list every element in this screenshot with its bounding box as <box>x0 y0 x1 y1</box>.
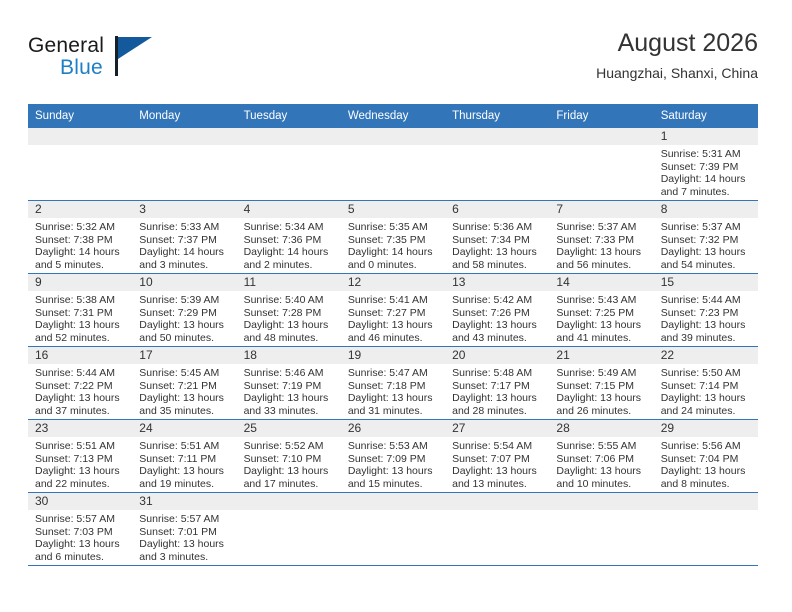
day-detail-line: Sunrise: 5:54 AM <box>452 440 543 453</box>
day-detail-line: Sunset: 7:28 PM <box>244 307 335 320</box>
day-detail-line: Sunset: 7:35 PM <box>348 234 439 247</box>
calendar-day-cell[interactable]: 23Sunrise: 5:51 AMSunset: 7:13 PMDayligh… <box>28 420 132 493</box>
day-details <box>28 145 132 148</box>
day-detail-line: Daylight: 13 hours <box>556 319 647 332</box>
calendar-day-cell[interactable]: 29Sunrise: 5:56 AMSunset: 7:04 PMDayligh… <box>654 420 758 493</box>
day-detail-line: Daylight: 13 hours <box>452 465 543 478</box>
calendar-day-cell[interactable]: 21Sunrise: 5:49 AMSunset: 7:15 PMDayligh… <box>549 347 653 420</box>
day-detail-line: Sunrise: 5:52 AM <box>244 440 335 453</box>
day-detail-line: Sunrise: 5:50 AM <box>661 367 752 380</box>
logo-flag-icon <box>118 37 152 59</box>
day-details: Sunrise: 5:50 AMSunset: 7:14 PMDaylight:… <box>654 364 758 417</box>
day-detail-line: and 3 minutes. <box>139 259 230 272</box>
calendar-day-cell-empty <box>654 493 758 566</box>
day-detail-line: Sunrise: 5:31 AM <box>661 148 752 161</box>
day-detail-line: Daylight: 14 hours <box>35 246 126 259</box>
calendar-day-cell[interactable]: 30Sunrise: 5:57 AMSunset: 7:03 PMDayligh… <box>28 493 132 566</box>
calendar-body: 1Sunrise: 5:31 AMSunset: 7:39 PMDaylight… <box>28 128 758 566</box>
day-detail-line: and 54 minutes. <box>661 259 752 272</box>
day-details: Sunrise: 5:38 AMSunset: 7:31 PMDaylight:… <box>28 291 132 344</box>
day-detail-line: Sunrise: 5:35 AM <box>348 221 439 234</box>
calendar-day-cell-empty <box>132 128 236 201</box>
day-detail-line: Sunrise: 5:49 AM <box>556 367 647 380</box>
calendar-day-cell[interactable]: 12Sunrise: 5:41 AMSunset: 7:27 PMDayligh… <box>341 274 445 347</box>
day-number <box>654 493 758 510</box>
day-number: 15 <box>654 274 758 291</box>
day-detail-line: Sunrise: 5:44 AM <box>35 367 126 380</box>
day-detail-line: Sunset: 7:19 PM <box>244 380 335 393</box>
day-detail-line: Daylight: 13 hours <box>348 465 439 478</box>
calendar-day-cell[interactable]: 5Sunrise: 5:35 AMSunset: 7:35 PMDaylight… <box>341 201 445 274</box>
day-detail-line: Daylight: 14 hours <box>244 246 335 259</box>
day-number <box>445 493 549 510</box>
calendar-day-cell-empty <box>341 128 445 201</box>
day-detail-line: Sunset: 7:39 PM <box>661 161 752 174</box>
calendar-day-cell[interactable]: 31Sunrise: 5:57 AMSunset: 7:01 PMDayligh… <box>132 493 236 566</box>
day-number: 9 <box>28 274 132 291</box>
day-number <box>341 128 445 145</box>
page-title: August 2026 <box>596 28 758 58</box>
day-details <box>237 510 341 513</box>
day-number: 14 <box>549 274 653 291</box>
day-detail-line: Sunset: 7:37 PM <box>139 234 230 247</box>
day-detail-line: Sunrise: 5:53 AM <box>348 440 439 453</box>
day-details: Sunrise: 5:51 AMSunset: 7:11 PMDaylight:… <box>132 437 236 490</box>
weekday-header-saturday: Saturday <box>654 104 758 128</box>
day-details: Sunrise: 5:35 AMSunset: 7:35 PMDaylight:… <box>341 218 445 271</box>
calendar-day-cell[interactable]: 16Sunrise: 5:44 AMSunset: 7:22 PMDayligh… <box>28 347 132 420</box>
day-number: 2 <box>28 201 132 218</box>
day-details: Sunrise: 5:52 AMSunset: 7:10 PMDaylight:… <box>237 437 341 490</box>
day-detail-line: and 56 minutes. <box>556 259 647 272</box>
logo-text-blue: Blue <box>60 56 103 80</box>
day-details: Sunrise: 5:55 AMSunset: 7:06 PMDaylight:… <box>549 437 653 490</box>
day-detail-line: Sunset: 7:32 PM <box>661 234 752 247</box>
calendar-day-cell[interactable]: 14Sunrise: 5:43 AMSunset: 7:25 PMDayligh… <box>549 274 653 347</box>
day-detail-line: Daylight: 13 hours <box>661 319 752 332</box>
day-detail-line: Daylight: 14 hours <box>348 246 439 259</box>
calendar-day-cell[interactable]: 19Sunrise: 5:47 AMSunset: 7:18 PMDayligh… <box>341 347 445 420</box>
day-detail-line: Sunset: 7:23 PM <box>661 307 752 320</box>
calendar-day-cell[interactable]: 18Sunrise: 5:46 AMSunset: 7:19 PMDayligh… <box>237 347 341 420</box>
day-number: 6 <box>445 201 549 218</box>
day-number: 30 <box>28 493 132 510</box>
day-detail-line: and 24 minutes. <box>661 405 752 418</box>
day-detail-line: and 0 minutes. <box>348 259 439 272</box>
day-number: 11 <box>237 274 341 291</box>
day-detail-line: and 43 minutes. <box>452 332 543 345</box>
day-number: 21 <box>549 347 653 364</box>
day-detail-line: Sunset: 7:03 PM <box>35 526 126 539</box>
day-number <box>549 493 653 510</box>
day-detail-line: Daylight: 13 hours <box>556 392 647 405</box>
calendar-week-row: 2Sunrise: 5:32 AMSunset: 7:38 PMDaylight… <box>28 201 758 274</box>
calendar-day-cell[interactable]: 9Sunrise: 5:38 AMSunset: 7:31 PMDaylight… <box>28 274 132 347</box>
day-detail-line: and 58 minutes. <box>452 259 543 272</box>
page-subtitle: Huangzhai, Shanxi, China <box>596 63 758 83</box>
day-detail-line: and 15 minutes. <box>348 478 439 491</box>
calendar-day-cell-empty <box>549 128 653 201</box>
day-detail-line: and 50 minutes. <box>139 332 230 345</box>
calendar-day-cell[interactable]: 3Sunrise: 5:33 AMSunset: 7:37 PMDaylight… <box>132 201 236 274</box>
calendar-day-cell[interactable]: 27Sunrise: 5:54 AMSunset: 7:07 PMDayligh… <box>445 420 549 493</box>
day-detail-line: and 52 minutes. <box>35 332 126 345</box>
day-detail-line: Sunset: 7:36 PM <box>244 234 335 247</box>
calendar-day-cell-empty <box>445 493 549 566</box>
day-detail-line: Sunrise: 5:37 AM <box>556 221 647 234</box>
day-detail-line: Daylight: 13 hours <box>35 319 126 332</box>
day-detail-line: Sunrise: 5:42 AM <box>452 294 543 307</box>
day-detail-line: Sunrise: 5:55 AM <box>556 440 647 453</box>
day-details: Sunrise: 5:51 AMSunset: 7:13 PMDaylight:… <box>28 437 132 490</box>
day-detail-line: Sunset: 7:13 PM <box>35 453 126 466</box>
day-details: Sunrise: 5:36 AMSunset: 7:34 PMDaylight:… <box>445 218 549 271</box>
calendar-day-cell[interactable]: 15Sunrise: 5:44 AMSunset: 7:23 PMDayligh… <box>654 274 758 347</box>
day-detail-line: and 46 minutes. <box>348 332 439 345</box>
day-detail-line: and 22 minutes. <box>35 478 126 491</box>
day-details <box>445 145 549 148</box>
day-detail-line: Sunset: 7:06 PM <box>556 453 647 466</box>
calendar-week-row: 23Sunrise: 5:51 AMSunset: 7:13 PMDayligh… <box>28 420 758 493</box>
day-details: Sunrise: 5:57 AMSunset: 7:03 PMDaylight:… <box>28 510 132 563</box>
day-details: Sunrise: 5:37 AMSunset: 7:33 PMDaylight:… <box>549 218 653 271</box>
day-number: 29 <box>654 420 758 437</box>
day-detail-line: Sunset: 7:09 PM <box>348 453 439 466</box>
calendar-day-cell[interactable]: 24Sunrise: 5:51 AMSunset: 7:11 PMDayligh… <box>132 420 236 493</box>
day-number: 19 <box>341 347 445 364</box>
day-detail-line: Sunset: 7:26 PM <box>452 307 543 320</box>
day-detail-line: Daylight: 13 hours <box>35 465 126 478</box>
day-detail-line: Daylight: 13 hours <box>661 392 752 405</box>
calendar-day-cell[interactable]: 7Sunrise: 5:37 AMSunset: 7:33 PMDaylight… <box>549 201 653 274</box>
day-detail-line: Sunset: 7:29 PM <box>139 307 230 320</box>
day-detail-line: and 6 minutes. <box>35 551 126 564</box>
day-detail-line: Sunset: 7:07 PM <box>452 453 543 466</box>
day-detail-line: and 7 minutes. <box>661 186 752 199</box>
day-detail-line: and 8 minutes. <box>661 478 752 491</box>
day-detail-line: Daylight: 13 hours <box>661 465 752 478</box>
day-detail-line: Sunrise: 5:57 AM <box>35 513 126 526</box>
day-detail-line: Sunrise: 5:32 AM <box>35 221 126 234</box>
day-details: Sunrise: 5:33 AMSunset: 7:37 PMDaylight:… <box>132 218 236 271</box>
day-detail-line: Sunset: 7:34 PM <box>452 234 543 247</box>
day-detail-line: Daylight: 13 hours <box>556 465 647 478</box>
weekday-header-wednesday: Wednesday <box>341 104 445 128</box>
day-details <box>445 510 549 513</box>
day-detail-line: and 10 minutes. <box>556 478 647 491</box>
calendar-week-row: 16Sunrise: 5:44 AMSunset: 7:22 PMDayligh… <box>28 347 758 420</box>
day-detail-line: and 19 minutes. <box>139 478 230 491</box>
day-details <box>237 145 341 148</box>
day-details: Sunrise: 5:32 AMSunset: 7:38 PMDaylight:… <box>28 218 132 271</box>
weekday-header-thursday: Thursday <box>445 104 549 128</box>
calendar-page: General Blue August 2026 Huangzhai, Shan… <box>0 0 792 612</box>
day-number: 18 <box>237 347 341 364</box>
day-details: Sunrise: 5:39 AMSunset: 7:29 PMDaylight:… <box>132 291 236 344</box>
day-details: Sunrise: 5:37 AMSunset: 7:32 PMDaylight:… <box>654 218 758 271</box>
day-detail-line: Sunrise: 5:47 AM <box>348 367 439 380</box>
calendar-day-cell[interactable]: 13Sunrise: 5:42 AMSunset: 7:26 PMDayligh… <box>445 274 549 347</box>
day-detail-line: and 41 minutes. <box>556 332 647 345</box>
calendar-day-cell[interactable]: 11Sunrise: 5:40 AMSunset: 7:28 PMDayligh… <box>237 274 341 347</box>
day-detail-line: and 39 minutes. <box>661 332 752 345</box>
day-detail-line: Sunset: 7:15 PM <box>556 380 647 393</box>
day-detail-line: Sunrise: 5:57 AM <box>139 513 230 526</box>
day-details: Sunrise: 5:34 AMSunset: 7:36 PMDaylight:… <box>237 218 341 271</box>
day-detail-line: Daylight: 13 hours <box>139 465 230 478</box>
day-detail-line: Daylight: 13 hours <box>452 319 543 332</box>
day-details: Sunrise: 5:49 AMSunset: 7:15 PMDaylight:… <box>549 364 653 417</box>
day-detail-line: Daylight: 13 hours <box>348 319 439 332</box>
day-details: Sunrise: 5:46 AMSunset: 7:19 PMDaylight:… <box>237 364 341 417</box>
day-detail-line: Sunset: 7:33 PM <box>556 234 647 247</box>
day-number: 12 <box>341 274 445 291</box>
day-number <box>237 493 341 510</box>
day-number <box>28 128 132 145</box>
day-number <box>341 493 445 510</box>
day-detail-line: Sunset: 7:11 PM <box>139 453 230 466</box>
calendar-week-row: 30Sunrise: 5:57 AMSunset: 7:03 PMDayligh… <box>28 493 758 566</box>
day-detail-line: Sunset: 7:22 PM <box>35 380 126 393</box>
day-detail-line: Daylight: 14 hours <box>661 173 752 186</box>
day-detail-line: Daylight: 14 hours <box>139 246 230 259</box>
calendar-day-cell[interactable]: 10Sunrise: 5:39 AMSunset: 7:29 PMDayligh… <box>132 274 236 347</box>
calendar-day-cell-empty <box>445 128 549 201</box>
day-detail-line: Sunrise: 5:43 AM <box>556 294 647 307</box>
day-details: Sunrise: 5:57 AMSunset: 7:01 PMDaylight:… <box>132 510 236 563</box>
title-block: August 2026 Huangzhai, Shanxi, China <box>596 28 758 83</box>
day-details: Sunrise: 5:40 AMSunset: 7:28 PMDaylight:… <box>237 291 341 344</box>
day-number: 26 <box>341 420 445 437</box>
day-details <box>549 145 653 148</box>
day-number <box>445 128 549 145</box>
day-detail-line: and 13 minutes. <box>452 478 543 491</box>
day-details: Sunrise: 5:44 AMSunset: 7:23 PMDaylight:… <box>654 291 758 344</box>
weekday-header-friday: Friday <box>549 104 653 128</box>
day-detail-line: Sunset: 7:21 PM <box>139 380 230 393</box>
day-detail-line: Sunrise: 5:33 AM <box>139 221 230 234</box>
day-number: 7 <box>549 201 653 218</box>
day-number: 3 <box>132 201 236 218</box>
day-number: 16 <box>28 347 132 364</box>
calendar-day-cell[interactable]: 20Sunrise: 5:48 AMSunset: 7:17 PMDayligh… <box>445 347 549 420</box>
page-header: General Blue August 2026 Huangzhai, Shan… <box>28 28 758 96</box>
day-details: Sunrise: 5:48 AMSunset: 7:17 PMDaylight:… <box>445 364 549 417</box>
day-detail-line: and 5 minutes. <box>35 259 126 272</box>
day-details: Sunrise: 5:56 AMSunset: 7:04 PMDaylight:… <box>654 437 758 490</box>
day-detail-line: Daylight: 13 hours <box>139 319 230 332</box>
day-detail-line: Sunset: 7:14 PM <box>661 380 752 393</box>
calendar-day-cell-empty <box>549 493 653 566</box>
day-number: 27 <box>445 420 549 437</box>
day-detail-line: and 28 minutes. <box>452 405 543 418</box>
day-detail-line: Daylight: 13 hours <box>244 319 335 332</box>
day-details <box>549 510 653 513</box>
day-detail-line: Sunset: 7:38 PM <box>35 234 126 247</box>
day-detail-line: Sunrise: 5:38 AM <box>35 294 126 307</box>
day-detail-line: Sunset: 7:17 PM <box>452 380 543 393</box>
day-detail-line: Sunrise: 5:48 AM <box>452 367 543 380</box>
day-detail-line: and 17 minutes. <box>244 478 335 491</box>
day-detail-line: Daylight: 13 hours <box>244 392 335 405</box>
calendar-week-row: 1Sunrise: 5:31 AMSunset: 7:39 PMDaylight… <box>28 128 758 201</box>
calendar-day-cell[interactable]: 8Sunrise: 5:37 AMSunset: 7:32 PMDaylight… <box>654 201 758 274</box>
day-number: 20 <box>445 347 549 364</box>
day-details: Sunrise: 5:45 AMSunset: 7:21 PMDaylight:… <box>132 364 236 417</box>
calendar-day-cell[interactable]: 4Sunrise: 5:34 AMSunset: 7:36 PMDaylight… <box>237 201 341 274</box>
day-detail-line: Sunset: 7:18 PM <box>348 380 439 393</box>
day-detail-line: Sunset: 7:25 PM <box>556 307 647 320</box>
day-detail-line: Sunrise: 5:36 AM <box>452 221 543 234</box>
calendar-day-cell[interactable]: 1Sunrise: 5:31 AMSunset: 7:39 PMDaylight… <box>654 128 758 201</box>
day-details: Sunrise: 5:54 AMSunset: 7:07 PMDaylight:… <box>445 437 549 490</box>
day-detail-line: Sunset: 7:27 PM <box>348 307 439 320</box>
day-number: 28 <box>549 420 653 437</box>
day-detail-line: Sunrise: 5:45 AM <box>139 367 230 380</box>
calendar-day-cell-empty <box>237 128 341 201</box>
day-detail-line: and 37 minutes. <box>35 405 126 418</box>
day-number: 23 <box>28 420 132 437</box>
day-number <box>132 128 236 145</box>
day-details <box>341 510 445 513</box>
day-number: 13 <box>445 274 549 291</box>
day-detail-line: Sunrise: 5:56 AM <box>661 440 752 453</box>
day-detail-line: Daylight: 13 hours <box>244 465 335 478</box>
day-number: 22 <box>654 347 758 364</box>
day-number: 8 <box>654 201 758 218</box>
calendar-day-cell[interactable]: 17Sunrise: 5:45 AMSunset: 7:21 PMDayligh… <box>132 347 236 420</box>
day-detail-line: and 48 minutes. <box>244 332 335 345</box>
calendar-day-cell[interactable]: 22Sunrise: 5:50 AMSunset: 7:14 PMDayligh… <box>654 347 758 420</box>
day-detail-line: Sunrise: 5:41 AM <box>348 294 439 307</box>
day-detail-line: Sunrise: 5:37 AM <box>661 221 752 234</box>
calendar-day-cell[interactable]: 2Sunrise: 5:32 AMSunset: 7:38 PMDaylight… <box>28 201 132 274</box>
day-number: 24 <box>132 420 236 437</box>
day-detail-line: Sunrise: 5:39 AM <box>139 294 230 307</box>
day-detail-line: Sunrise: 5:40 AM <box>244 294 335 307</box>
logo-text-general: General <box>28 34 104 58</box>
day-details: Sunrise: 5:44 AMSunset: 7:22 PMDaylight:… <box>28 364 132 417</box>
day-number: 31 <box>132 493 236 510</box>
day-detail-line: and 33 minutes. <box>244 405 335 418</box>
calendar-day-cell[interactable]: 6Sunrise: 5:36 AMSunset: 7:34 PMDaylight… <box>445 201 549 274</box>
weekday-header-sunday: Sunday <box>28 104 132 128</box>
day-details <box>132 145 236 148</box>
day-number <box>549 128 653 145</box>
calendar-day-cell-empty <box>341 493 445 566</box>
day-details: Sunrise: 5:47 AMSunset: 7:18 PMDaylight:… <box>341 364 445 417</box>
day-detail-line: Sunset: 7:10 PM <box>244 453 335 466</box>
day-number: 17 <box>132 347 236 364</box>
weekday-header-row: SundayMondayTuesdayWednesdayThursdayFrid… <box>28 104 758 128</box>
day-detail-line: Sunset: 7:31 PM <box>35 307 126 320</box>
day-details: Sunrise: 5:43 AMSunset: 7:25 PMDaylight:… <box>549 291 653 344</box>
day-detail-line: Daylight: 13 hours <box>139 392 230 405</box>
general-blue-logo[interactable]: General Blue <box>28 34 208 90</box>
day-detail-line: and 2 minutes. <box>244 259 335 272</box>
day-detail-line: and 26 minutes. <box>556 405 647 418</box>
day-detail-line: Sunset: 7:04 PM <box>661 453 752 466</box>
calendar-day-cell-empty <box>237 493 341 566</box>
day-detail-line: Sunrise: 5:46 AM <box>244 367 335 380</box>
day-detail-line: Sunset: 7:01 PM <box>139 526 230 539</box>
calendar-week-row: 9Sunrise: 5:38 AMSunset: 7:31 PMDaylight… <box>28 274 758 347</box>
day-number: 25 <box>237 420 341 437</box>
day-detail-line: Daylight: 13 hours <box>452 246 543 259</box>
calendar-day-cell-empty <box>28 128 132 201</box>
day-number: 4 <box>237 201 341 218</box>
day-details <box>654 510 758 513</box>
day-number: 1 <box>654 128 758 145</box>
day-detail-line: and 31 minutes. <box>348 405 439 418</box>
day-number: 10 <box>132 274 236 291</box>
calendar-day-cell[interactable]: 25Sunrise: 5:52 AMSunset: 7:10 PMDayligh… <box>237 420 341 493</box>
day-detail-line: Daylight: 13 hours <box>35 538 126 551</box>
calendar-grid: SundayMondayTuesdayWednesdayThursdayFrid… <box>28 104 758 566</box>
calendar-day-cell[interactable]: 26Sunrise: 5:53 AMSunset: 7:09 PMDayligh… <box>341 420 445 493</box>
day-detail-line: and 35 minutes. <box>139 405 230 418</box>
day-details: Sunrise: 5:42 AMSunset: 7:26 PMDaylight:… <box>445 291 549 344</box>
day-detail-line: Daylight: 13 hours <box>348 392 439 405</box>
day-details <box>341 145 445 148</box>
day-detail-line: Daylight: 13 hours <box>35 392 126 405</box>
calendar-day-cell[interactable]: 28Sunrise: 5:55 AMSunset: 7:06 PMDayligh… <box>549 420 653 493</box>
day-detail-line: Daylight: 13 hours <box>452 392 543 405</box>
day-details: Sunrise: 5:31 AMSunset: 7:39 PMDaylight:… <box>654 145 758 198</box>
day-details: Sunrise: 5:41 AMSunset: 7:27 PMDaylight:… <box>341 291 445 344</box>
weekday-header-monday: Monday <box>132 104 236 128</box>
day-detail-line: Daylight: 13 hours <box>661 246 752 259</box>
day-details: Sunrise: 5:53 AMSunset: 7:09 PMDaylight:… <box>341 437 445 490</box>
day-detail-line: Sunrise: 5:34 AM <box>244 221 335 234</box>
day-number <box>237 128 341 145</box>
day-detail-line: Daylight: 13 hours <box>139 538 230 551</box>
day-detail-line: Sunrise: 5:51 AM <box>139 440 230 453</box>
day-number: 5 <box>341 201 445 218</box>
day-detail-line: Sunrise: 5:51 AM <box>35 440 126 453</box>
day-detail-line: Daylight: 13 hours <box>556 246 647 259</box>
weekday-header-tuesday: Tuesday <box>237 104 341 128</box>
day-detail-line: Sunrise: 5:44 AM <box>661 294 752 307</box>
day-detail-line: and 3 minutes. <box>139 551 230 564</box>
